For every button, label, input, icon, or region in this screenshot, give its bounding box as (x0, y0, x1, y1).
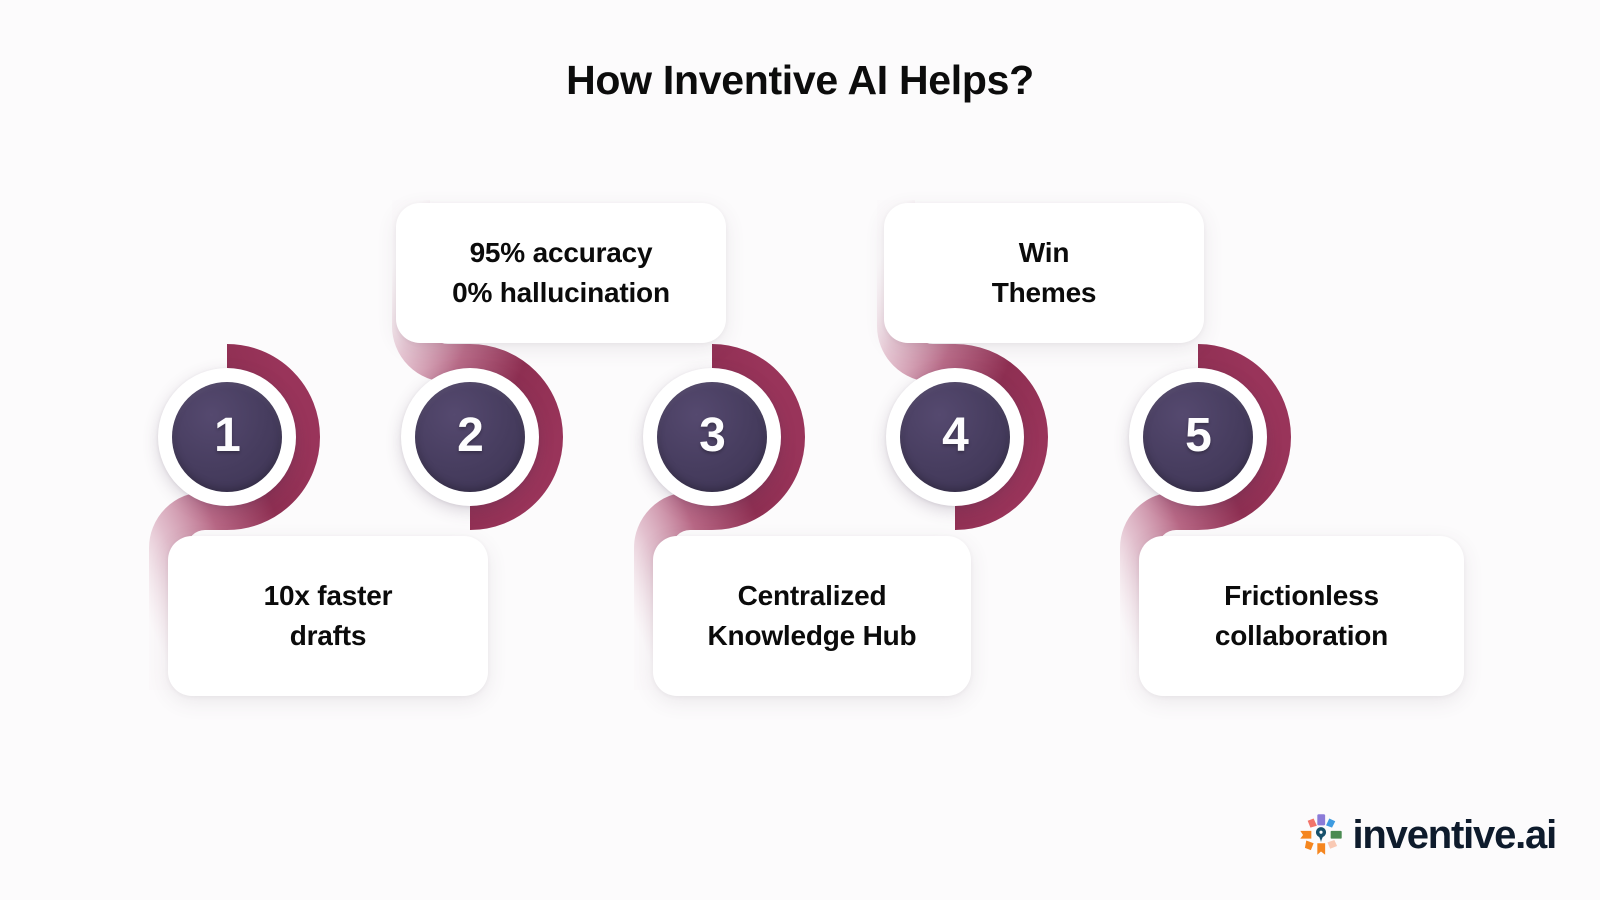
step-card-5[interactable]: Frictionless collaboration (1139, 536, 1464, 696)
step-card-1-label: 10x faster drafts (264, 576, 393, 656)
step-disc-3: 3 (657, 382, 767, 492)
step-number-5: 5 (1185, 412, 1211, 460)
step-number-3: 3 (699, 412, 725, 460)
step-number-4: 4 (942, 412, 968, 460)
step-card-1[interactable]: 10x faster drafts (168, 536, 488, 696)
step-circle-2[interactable]: 2 (401, 368, 539, 506)
step-card-4[interactable]: Win Themes (884, 203, 1204, 343)
step-circle-4[interactable]: 4 (886, 368, 1024, 506)
step-disc-1: 1 (172, 382, 282, 492)
pinwheel-starburst-icon (1298, 812, 1344, 858)
step-number-2: 2 (457, 412, 483, 460)
process-diagram: 10x faster drafts 95% accuracy 0% halluc… (0, 0, 1600, 780)
step-card-5-label: Frictionless collaboration (1215, 576, 1388, 656)
step-card-3-label: Centralized Knowledge Hub (708, 576, 917, 656)
step-circle-5[interactable]: 5 (1129, 368, 1267, 506)
step-circle-1[interactable]: 1 (158, 368, 296, 506)
step-card-2[interactable]: 95% accuracy 0% hallucination (396, 203, 726, 343)
step-card-4-label: Win Themes (992, 233, 1097, 313)
slide-canvas: How Inventive AI Helps? (0, 0, 1600, 900)
step-card-3[interactable]: Centralized Knowledge Hub (653, 536, 971, 696)
step-card-2-label: 95% accuracy 0% hallucination (452, 233, 670, 313)
step-disc-5: 5 (1143, 382, 1253, 492)
brand-logo-text: inventive.ai (1353, 815, 1556, 855)
brand-logo[interactable]: inventive.ai (1298, 812, 1556, 858)
step-disc-4: 4 (900, 382, 1010, 492)
step-circle-3[interactable]: 3 (643, 368, 781, 506)
step-disc-2: 2 (415, 382, 525, 492)
step-number-1: 1 (214, 412, 240, 460)
